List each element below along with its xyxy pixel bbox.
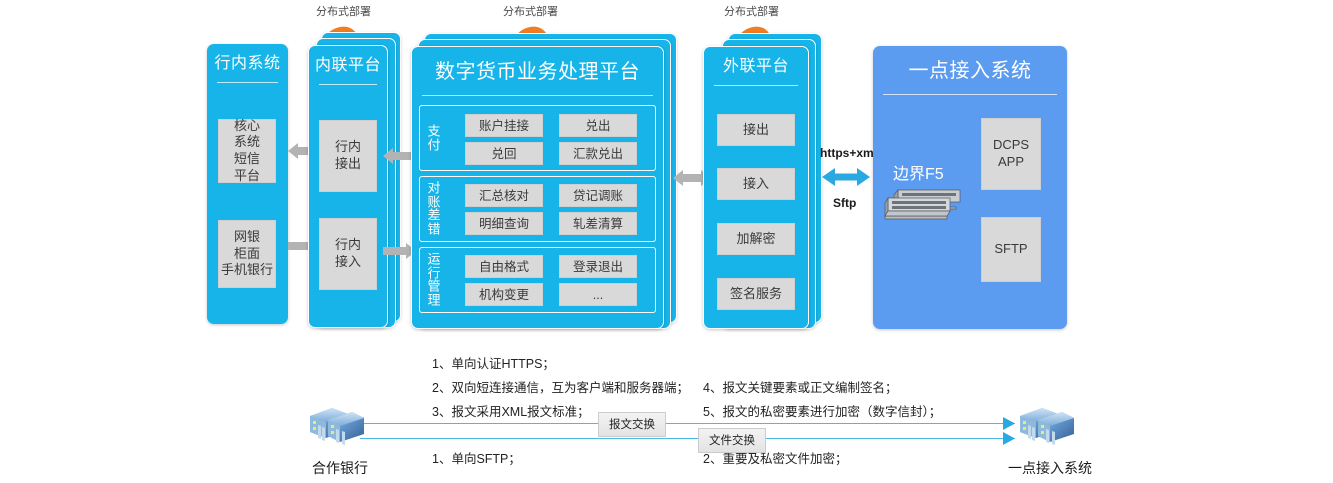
title-divider [422, 95, 653, 96]
tile-encrypt-decrypt[interactable]: 加解密 [717, 223, 795, 255]
note-left-1: 1、单向认证HTTPS； [432, 353, 555, 372]
note-right-5: 5、报文的私密要素进行加密（数字信封）； [703, 401, 941, 420]
architecture-diagram: 分布式部署 分布式部署 分布式部署 行内系统 核心 系统 短信 平台 网银 柜面… [0, 0, 1333, 483]
tile-login-logout[interactable]: 登录退出 [559, 255, 637, 278]
tile-redeem-out[interactable]: 兑出 [559, 114, 637, 137]
tile-line: 行内 [335, 237, 361, 254]
tile-external-out[interactable]: 接出 [717, 114, 795, 146]
tile-line: 接入 [335, 254, 361, 271]
tile-line: 网银 [234, 229, 260, 246]
title-divider [217, 82, 278, 83]
note-left-3: 3、报文采用XML报文标准； [432, 401, 590, 420]
tile-line: 接出 [335, 156, 361, 173]
tile-signature-service[interactable]: 签名服务 [717, 278, 795, 310]
chip-file-exchange[interactable]: 文件交换 [698, 428, 766, 453]
tile-line: APP [998, 154, 1024, 171]
tile-credit-adjust[interactable]: 贷记调账 [559, 184, 637, 207]
tile-line: DCPS [993, 137, 1029, 154]
panel-title-single-point-access-system: 一点接入系统 [873, 46, 1067, 94]
tile-external-in[interactable]: 接入 [717, 168, 795, 200]
group-label-payment: 支付 [426, 124, 442, 151]
tile-line: 手机银行 [221, 262, 273, 279]
tile-remit-redeem-out[interactable]: 汇款兑出 [559, 142, 637, 165]
tile-line: 平台 [234, 168, 260, 185]
tile-intranet-out[interactable]: 行内 接出 [319, 120, 377, 192]
label-boundary-f5: 边界F5 [893, 160, 944, 184]
tile-line: 核心 [234, 118, 260, 135]
tile-dcps-app[interactable]: DCPS APP [981, 118, 1041, 190]
tile-line: 柜面 [234, 246, 260, 263]
tile-detail-query[interactable]: 明细查询 [465, 212, 543, 235]
group-label-operations: 运行管理 [426, 253, 442, 308]
tile-line: 行内 [335, 139, 361, 156]
title-divider [883, 94, 1057, 95]
label-protocol-https-xml: https+xml [820, 146, 877, 160]
tile-more[interactable]: ... [559, 283, 637, 306]
title-divider [714, 85, 798, 86]
f5-switch-icon [884, 188, 962, 226]
flowline-message-exchange [360, 423, 1015, 424]
title-divider [319, 84, 377, 85]
tile-core-system[interactable]: 核心 系统 短信 平台 [218, 119, 276, 183]
tile-ebank-counter-mobile[interactable]: 网银 柜面 手机银行 [218, 220, 276, 288]
tile-sftp[interactable]: SFTP [981, 217, 1041, 282]
caption-partner-bank: 合作银行 [295, 458, 385, 478]
tile-line: 系统 [234, 134, 260, 151]
tile-org-change[interactable]: 机构变更 [465, 283, 543, 306]
panel-title-dcep-core-platform: 数字货币业务处理平台 [412, 47, 663, 95]
tile-line: 短信 [234, 151, 260, 168]
tile-free-format[interactable]: 自由格式 [465, 255, 543, 278]
tile-account-link[interactable]: 账户挂接 [465, 114, 543, 137]
group-label-reconciliation: 对账差错 [426, 182, 442, 237]
tile-redeem-back[interactable]: 兑回 [465, 142, 543, 165]
tile-summary-check[interactable]: 汇总核对 [465, 184, 543, 207]
panel-title-external-platform: 外联平台 [704, 47, 808, 85]
note-right-4: 4、报文关键要素或正文编制签名； [703, 377, 897, 396]
tile-netting-settle[interactable]: 轧差清算 [559, 212, 637, 235]
caption-single-point-access: 一点接入系统 [995, 458, 1105, 478]
flowline-file-exchange [360, 438, 1015, 439]
label-protocol-sftp: Sftp [833, 196, 856, 210]
tile-intranet-in[interactable]: 行内 接入 [319, 218, 377, 290]
partner-bank-server-icon [302, 404, 364, 450]
panel-title-bank-internal-system: 行内系统 [207, 44, 288, 82]
note-bottom-left: 1、单向SFTP； [432, 448, 521, 467]
single-point-access-server-icon [1012, 404, 1074, 450]
note-left-2: 2、双向短连接通信，互为客户端和服务器端； [432, 377, 689, 396]
panel-title-intranet-platform: 内联平台 [309, 46, 387, 84]
chip-message-exchange[interactable]: 报文交换 [598, 412, 666, 437]
arrow-bidirectional-protocol [822, 167, 870, 187]
